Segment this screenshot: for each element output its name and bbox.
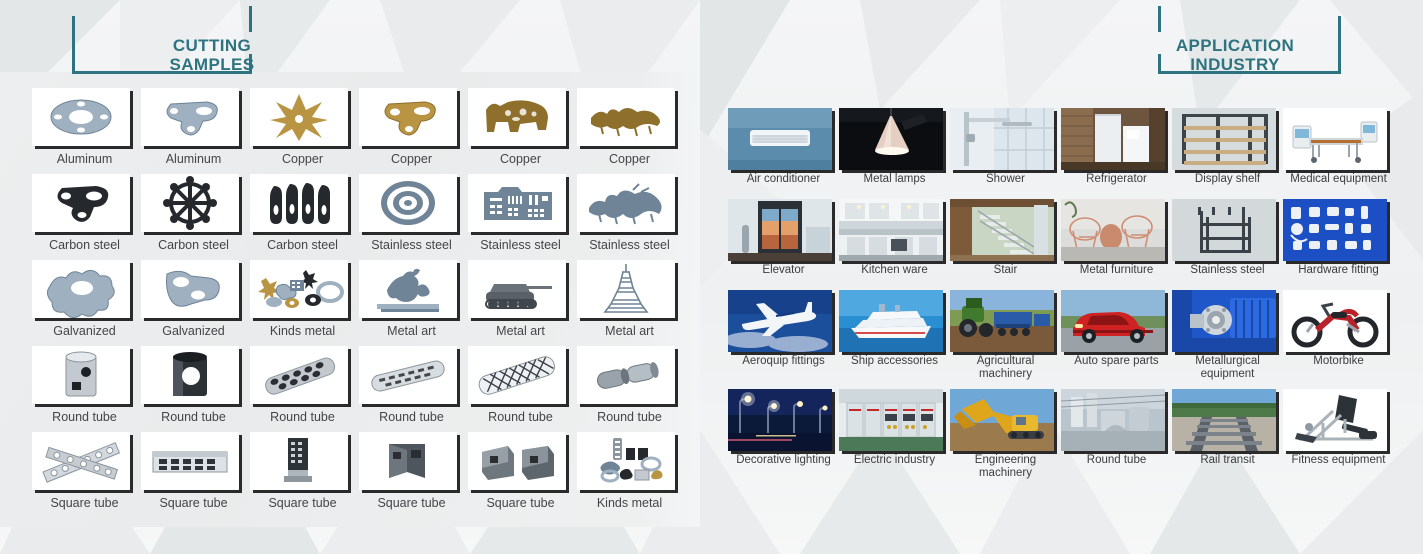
- application-industry-cell[interactable]: Medical equipment: [1283, 108, 1394, 191]
- application-industry-cell[interactable]: Ship accessories: [839, 290, 950, 381]
- cutting-sample-label: Carbon steel: [32, 232, 137, 258]
- blob-plate-image: [32, 260, 130, 318]
- application-industry-label: Stair: [950, 261, 1061, 282]
- cutting-sample-cell[interactable]: Stainless steel: [577, 174, 682, 258]
- cutting-sample-label: Kinds metal: [577, 490, 682, 516]
- application-industry-label: Auto spare parts: [1061, 352, 1172, 373]
- cutting-samples-heading-block: CUTTING SAMPLES: [72, 6, 372, 76]
- cutting-sample-label: Aluminum: [32, 146, 137, 172]
- cutting-sample-cell[interactable]: Kinds metal: [250, 260, 355, 344]
- cutting-sample-cell[interactable]: Stainless steel: [359, 174, 464, 258]
- cutting-sample-label: Metal art: [468, 318, 573, 344]
- application-industry-cell[interactable]: Fitness equipment: [1283, 389, 1394, 480]
- cutting-sample-label: Metal art: [577, 318, 682, 344]
- ring-disc-image: [359, 174, 457, 232]
- tube-hole-black-image: [141, 346, 239, 404]
- cutting-sample-label: Galvanized: [32, 318, 137, 344]
- display-shelf-image: [1172, 108, 1276, 170]
- dragon-copper-image: [577, 88, 675, 146]
- cutting-sample-label: Square tube: [250, 490, 355, 516]
- application-industry-label: Elevator: [728, 261, 839, 282]
- cutting-sample-cell[interactable]: Round tube: [577, 346, 682, 430]
- application-industry-cell[interactable]: Elevator: [728, 199, 839, 282]
- application-industry-cell[interactable]: Electric industry: [839, 389, 950, 480]
- application-industry-label: Hardware fitting: [1283, 261, 1394, 282]
- cutting-sample-label: Round tube: [577, 404, 682, 430]
- cutting-sample-label: Round tube: [359, 404, 464, 430]
- tri-plate-copper-image: [359, 88, 457, 146]
- shower-image: [950, 108, 1054, 170]
- cutting-sample-cell[interactable]: Copper: [577, 88, 682, 172]
- application-industry-label: Air conditioner: [728, 170, 839, 191]
- application-industry-label: Metal furniture: [1061, 261, 1172, 282]
- cutting-sample-cell[interactable]: Kinds metal: [577, 432, 682, 516]
- mixed-parts-2-image: [577, 432, 675, 490]
- cutting-sample-label: Metal art: [359, 318, 464, 344]
- ship-wheel-black-image: [141, 174, 239, 232]
- square-stack-image: [250, 432, 348, 490]
- kitchen-image: [839, 199, 943, 261]
- tube-pattern-chrome-image: [250, 346, 348, 404]
- application-industry-label: Metallurgical equipment: [1172, 352, 1283, 381]
- cutting-sample-cell[interactable]: Round tube: [250, 346, 355, 430]
- cutting-sample-cell[interactable]: Square tube: [32, 432, 137, 516]
- tri-plate-image: [141, 88, 239, 146]
- horse-sculpture-image: [359, 260, 457, 318]
- square-cross-image: [32, 432, 130, 490]
- eiffel-tower-image: [577, 260, 675, 318]
- tri-plate-black-image: [32, 174, 130, 232]
- application-industry-cell[interactable]: Stair: [950, 199, 1061, 282]
- rooftop-plant-image: [1061, 389, 1165, 451]
- application-industry-label: Fitness equipment: [1283, 451, 1394, 472]
- refrigerator-image: [1061, 108, 1165, 170]
- airplane-image: [728, 290, 832, 352]
- street-lights-image: [728, 389, 832, 451]
- cutting-sample-label: Round tube: [141, 404, 246, 430]
- cutting-sample-cell[interactable]: Aluminum: [32, 88, 137, 172]
- application-industry-cell[interactable]: Stainless steel: [1172, 199, 1283, 282]
- application-industry-cell[interactable]: Decorative lighting: [728, 389, 839, 480]
- cutting-sample-label: Round tube: [250, 404, 355, 430]
- application-industry-cell[interactable]: Shower: [950, 108, 1061, 191]
- cutting-sample-cell[interactable]: Round tube: [468, 346, 573, 430]
- application-industry-cell[interactable]: Metallurgical equipment: [1172, 290, 1283, 381]
- staircase-image: [950, 199, 1054, 261]
- application-industry-label: Metal lamps: [839, 170, 950, 191]
- application-industry-cell[interactable]: Hardware fitting: [1283, 199, 1394, 282]
- application-industry-label: Round tube: [1061, 451, 1172, 472]
- tractor-image: [950, 290, 1054, 352]
- cutting-sample-cell[interactable]: Stainless steel: [468, 174, 573, 258]
- steel-rack-image: [1172, 199, 1276, 261]
- application-industry-label: Engineering machinery: [950, 451, 1061, 480]
- tube-mesh-image: [468, 346, 566, 404]
- cutting-sample-label: Round tube: [468, 404, 573, 430]
- cutting-sample-cell[interactable]: Square tube: [141, 432, 246, 516]
- application-industry-title: APPLICATION INDUSTRY: [1140, 36, 1330, 74]
- industrial-machine-image: [1172, 290, 1276, 352]
- application-industry-label: Medical equipment: [1283, 170, 1394, 191]
- dragon-steel-image: [577, 174, 675, 232]
- flange-round-image: [32, 88, 130, 146]
- cutting-sample-label: Copper: [468, 146, 573, 172]
- pendant-lamp-image: [839, 108, 943, 170]
- application-industry-cell[interactable]: Aeroquip fittings: [728, 290, 839, 381]
- excavator-image: [950, 389, 1054, 451]
- cruise-ship-image: [839, 290, 943, 352]
- application-industry-cell[interactable]: Engineering machinery: [950, 389, 1061, 480]
- cutting-sample-cell[interactable]: Copper: [359, 88, 464, 172]
- application-industry-grid: Air conditioner Metal lamps Shower Refri…: [728, 108, 1394, 480]
- cutting-sample-label: Stainless steel: [577, 232, 682, 258]
- hook-set-black-image: [250, 174, 348, 232]
- cutting-sample-cell[interactable]: Carbon steel: [32, 174, 137, 258]
- application-industry-label: Decorative lighting: [728, 451, 839, 472]
- cutting-sample-cell[interactable]: Galvanized: [32, 260, 137, 344]
- cutting-sample-label: Square tube: [141, 490, 246, 516]
- application-industry-heading-block: APPLICATION INDUSTRY: [1150, 6, 1423, 76]
- motorbike-image: [1283, 290, 1387, 352]
- application-industry-label: Ship accessories: [839, 352, 950, 373]
- tank-model-image: [468, 260, 566, 318]
- square-slot-bar-image: [141, 432, 239, 490]
- application-industry-label: Aeroquip fittings: [728, 352, 839, 373]
- tube-perforated-image: [359, 346, 457, 404]
- cutting-sample-label: Stainless steel: [359, 232, 464, 258]
- application-industry-cell[interactable]: Motorbike: [1283, 290, 1394, 381]
- red-car-image: [1061, 290, 1165, 352]
- application-industry-label: Stainless steel: [1172, 261, 1283, 282]
- cutting-sample-label: Square tube: [359, 490, 464, 516]
- application-industry-label: Agricultural machinery: [950, 352, 1061, 381]
- cutting-sample-cell[interactable]: Metal art: [468, 260, 573, 344]
- cutting-samples-grid: Aluminum Aluminum Copper Copper Copper C…: [32, 88, 682, 516]
- cutting-sample-cell[interactable]: Carbon steel: [250, 174, 355, 258]
- cutting-sample-cell[interactable]: Aluminum: [141, 88, 246, 172]
- application-industry-cell[interactable]: Round tube: [1061, 389, 1172, 480]
- cutting-sample-cell[interactable]: Square tube: [468, 432, 573, 516]
- application-industry-label: Refrigerator: [1061, 170, 1172, 191]
- application-industry-label: Kitchen ware: [839, 261, 950, 282]
- switchgear-image: [839, 389, 943, 451]
- application-industry-cell[interactable]: Auto spare parts: [1061, 290, 1172, 381]
- cutting-sample-cell[interactable]: Round tube: [359, 346, 464, 430]
- cutting-sample-label: Aluminum: [141, 146, 246, 172]
- cutting-sample-cell[interactable]: Copper: [468, 88, 573, 172]
- application-industry-cell[interactable]: Air conditioner: [728, 108, 839, 191]
- cutting-sample-cell[interactable]: Square tube: [250, 432, 355, 516]
- gym-machine-image: [1283, 389, 1387, 451]
- cutting-sample-cell[interactable]: Galvanized: [141, 260, 246, 344]
- cutting-sample-cell[interactable]: Round tube: [32, 346, 137, 430]
- panel-plate-image: [468, 174, 566, 232]
- mixed-parts-image: [250, 260, 348, 318]
- application-industry-label: Shower: [950, 170, 1061, 191]
- hardware-parts-image: [1283, 199, 1387, 261]
- cutting-sample-label: Carbon steel: [250, 232, 355, 258]
- railway-image: [1172, 389, 1276, 451]
- ox-filigree-copper-image: [468, 88, 566, 146]
- key-plate-image: [141, 260, 239, 318]
- wire-chairs-image: [1061, 199, 1165, 261]
- cutting-sample-label: Round tube: [32, 404, 137, 430]
- application-industry-cell[interactable]: Kitchen ware: [839, 199, 950, 282]
- tube-slot-light-image: [32, 346, 130, 404]
- application-industry-cell[interactable]: Refrigerator: [1061, 108, 1172, 191]
- application-industry-cell[interactable]: Display shelf: [1172, 108, 1283, 191]
- hospital-bed-image: [1283, 108, 1387, 170]
- cutting-sample-label: Square tube: [32, 490, 137, 516]
- application-industry-cell[interactable]: Agricultural machinery: [950, 290, 1061, 381]
- square-pair-image: [468, 432, 566, 490]
- cutting-sample-label: Square tube: [468, 490, 573, 516]
- cutting-sample-cell[interactable]: Copper: [250, 88, 355, 172]
- air-conditioner-image: [728, 108, 832, 170]
- application-industry-cell[interactable]: Metal lamps: [839, 108, 950, 191]
- cutting-sample-label: Galvanized: [141, 318, 246, 344]
- tube-cut-pair-image: [577, 346, 675, 404]
- cutting-samples-title: CUTTING SAMPLES: [122, 36, 302, 74]
- cutting-sample-cell[interactable]: Square tube: [359, 432, 464, 516]
- cutting-sample-cell[interactable]: Metal art: [359, 260, 464, 344]
- cutting-sample-cell[interactable]: Round tube: [141, 346, 246, 430]
- application-industry-label: Electric industry: [839, 451, 950, 472]
- cutting-sample-label: Carbon steel: [141, 232, 246, 258]
- application-industry-cell[interactable]: Metal furniture: [1061, 199, 1172, 282]
- cutting-sample-label: Stainless steel: [468, 232, 573, 258]
- square-corner-image: [359, 432, 457, 490]
- cutting-sample-label: Copper: [577, 146, 682, 172]
- elevator-image: [728, 199, 832, 261]
- application-industry-label: Rail transit: [1172, 451, 1283, 472]
- application-industry-label: Display shelf: [1172, 170, 1283, 191]
- cutting-sample-label: Copper: [359, 146, 464, 172]
- cutting-sample-cell[interactable]: Metal art: [577, 260, 682, 344]
- cutting-sample-label: Kinds metal: [250, 318, 355, 344]
- application-industry-cell[interactable]: Rail transit: [1172, 389, 1283, 480]
- cutting-sample-cell[interactable]: Carbon steel: [141, 174, 246, 258]
- star-gear-copper-image: [250, 88, 348, 146]
- application-industry-label: Motorbike: [1283, 352, 1394, 373]
- cutting-sample-label: Copper: [250, 146, 355, 172]
